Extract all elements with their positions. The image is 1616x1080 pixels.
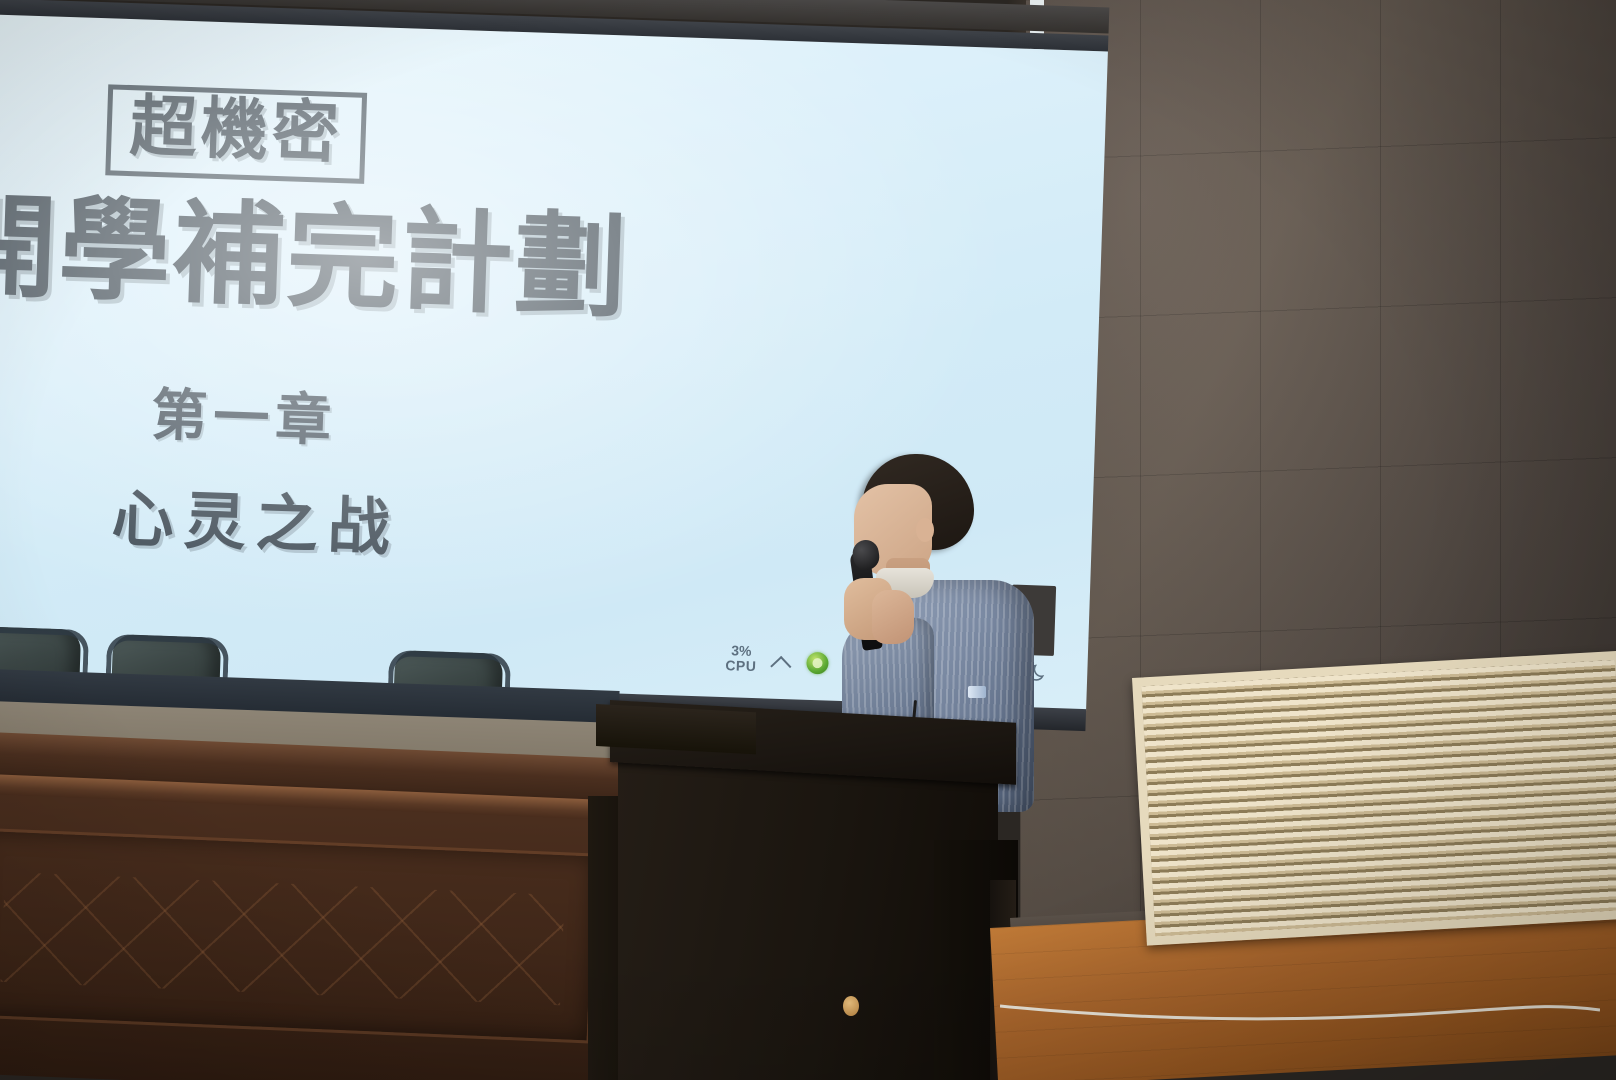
podium-vent-grille bbox=[836, 878, 864, 994]
cpu-label: CPU bbox=[725, 658, 757, 674]
system-tray: 3% CPU bbox=[725, 643, 829, 676]
top-secret-stamp-label: 超機密 bbox=[129, 94, 344, 168]
table-diamond-carving bbox=[1, 872, 565, 1005]
presenter-ear bbox=[916, 518, 934, 542]
chevron-up-icon[interactable] bbox=[770, 650, 793, 673]
podium-emblem bbox=[843, 996, 859, 1016]
cpu-meter-widget[interactable]: 3% CPU bbox=[725, 643, 757, 673]
slide-title: 開學補完計劃 bbox=[0, 191, 630, 326]
presenter-badge bbox=[968, 686, 986, 698]
slide-chapter-label: 第一章 bbox=[150, 388, 338, 450]
louver-slats bbox=[1141, 660, 1616, 936]
presenter-hand-right bbox=[872, 590, 914, 644]
slide-chapter-name: 心灵之战 bbox=[111, 489, 401, 561]
cpu-percent-value: 3% bbox=[731, 643, 752, 658]
top-secret-stamp: 超機密 bbox=[105, 84, 367, 184]
table-front-panel bbox=[0, 792, 637, 1080]
conference-table bbox=[0, 730, 639, 1080]
floor-cable bbox=[1000, 1000, 1600, 1026]
podium-reading-ledge bbox=[596, 704, 756, 754]
louvered-acoustic-panel bbox=[1132, 651, 1616, 946]
presentation-hall-photo: 超機密 開學補完計劃 第一章 心灵之战 3% CPU 19:37 bbox=[0, 0, 1616, 1080]
table-inset-frame bbox=[0, 828, 597, 1044]
podium bbox=[598, 700, 1018, 1080]
